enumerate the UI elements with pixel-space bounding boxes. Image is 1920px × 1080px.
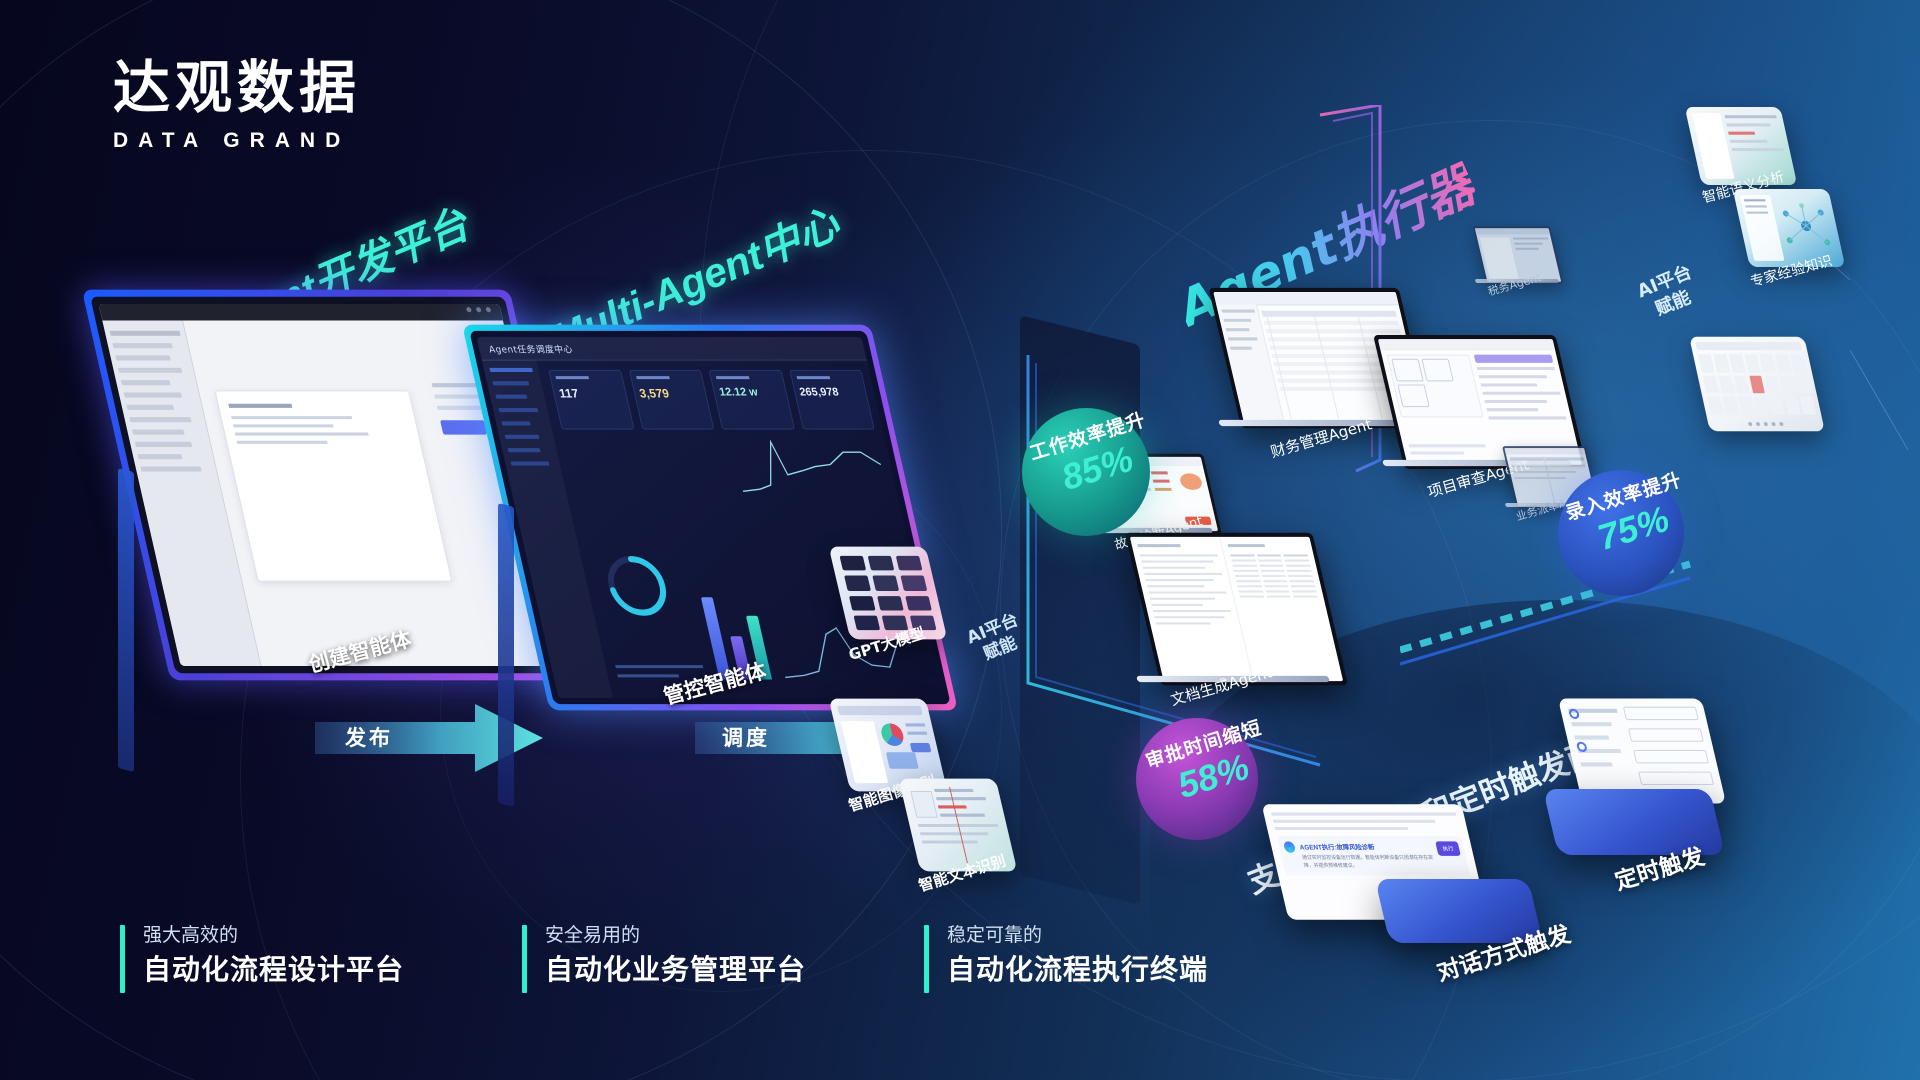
footer-caption-2: 安全易用的 自动化业务管理平台: [522, 925, 806, 993]
arrow-publish-label: 发布: [345, 722, 393, 752]
screen-finance-base: [1218, 420, 1415, 426]
screen-dev-side: [118, 468, 134, 772]
chat-card-body: 通过实时监控设备运行数据，智能体判断设备只因潜在存在故障，并提供预维修建议。: [1302, 855, 1438, 870]
brand-logo: 达观数据 DATA GRAND: [113, 60, 361, 153]
screen-right-tablet: [1689, 337, 1825, 431]
screen-multi-side: [498, 503, 514, 807]
screen-scheduled-trigger: [1558, 698, 1726, 803]
chat-context-text: [1271, 813, 1459, 831]
footer-accent-bar: [120, 925, 125, 993]
footer-captions: 强大高效的 自动化流程设计平台 安全易用的 自动化业务管理平台 稳定可靠的 自动…: [120, 925, 1326, 993]
footer-accent-bar: [924, 925, 929, 993]
footer-sub-2: 安全易用的: [545, 925, 806, 946]
screen-doc-generation: [1125, 533, 1348, 686]
footer-main-2: 自动化业务管理平台: [545, 955, 806, 986]
dashboard-title: Agent任务调度中心: [487, 342, 574, 355]
arrow-schedule-label: 调度: [722, 722, 770, 752]
brand-name-en: DATA GRAND: [113, 129, 361, 153]
footer-sub-3: 稳定可靠的: [947, 925, 1208, 946]
infographic-canvas: 达观数据 DATA GRAND Agent开发平台: [0, 0, 1920, 1080]
exec-dashes: [1400, 560, 1720, 680]
footer-accent-bar: [522, 925, 527, 993]
brand-name-cn: 达观数据: [113, 60, 361, 117]
footer-main-3: 自动化流程执行终端: [947, 955, 1208, 986]
footer-main-1: 自动化流程设计平台: [143, 955, 404, 986]
footer-sub-1: 强大高效的: [143, 925, 404, 946]
agent-avatar-icon: [1283, 841, 1296, 852]
footer-caption-3: 稳定可靠的 自动化流程执行终端: [924, 925, 1208, 993]
chat-card-title: AGENT执行:故障风险诊断: [1298, 841, 1432, 851]
footer-caption-1: 强大高效的 自动化流程设计平台: [120, 925, 404, 993]
chat-card-button[interactable]: 执行: [1435, 841, 1461, 855]
